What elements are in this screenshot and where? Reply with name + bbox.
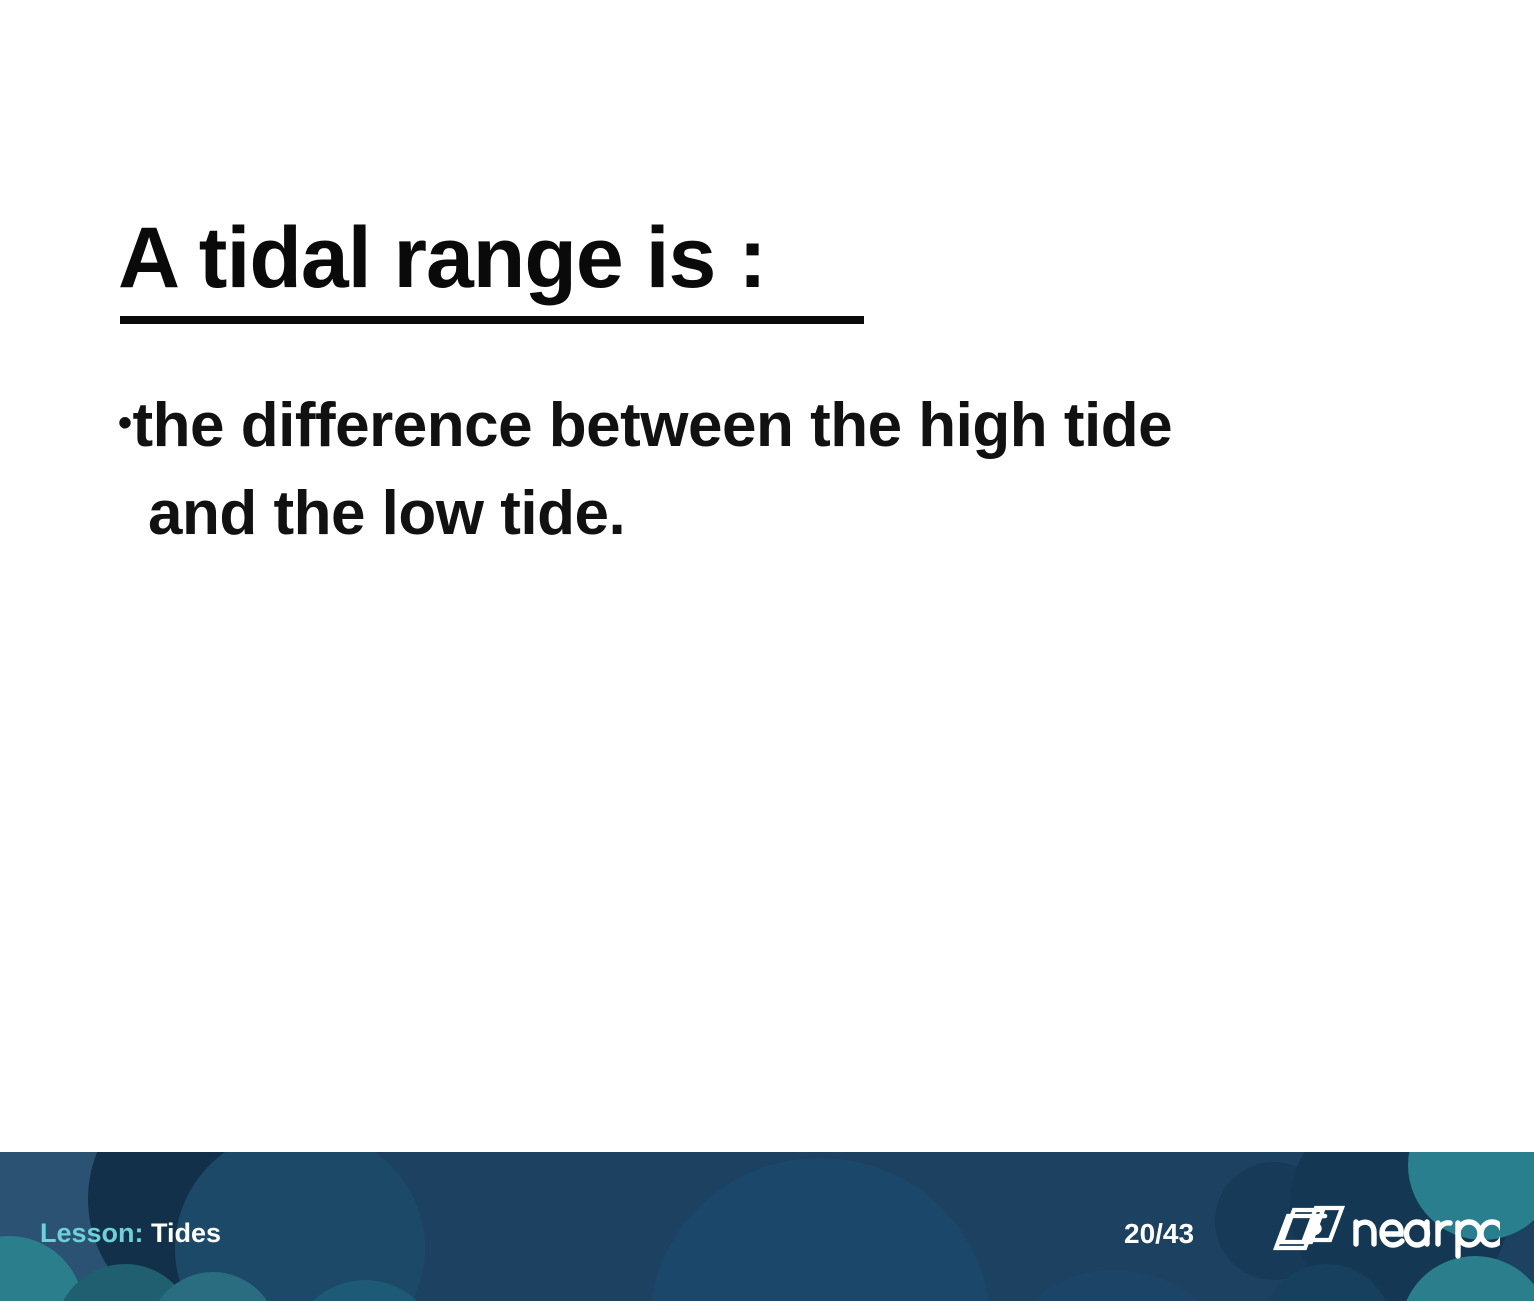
presentation-slide: A tidal range is : •the difference betwe… [0, 0, 1534, 1301]
bullet-item: •the difference between the high tide [118, 382, 1418, 470]
decorative-circle [1400, 1256, 1534, 1301]
lesson-label: Lesson: Tides [40, 1218, 221, 1249]
slide-title: A tidal range is : [118, 215, 766, 301]
bullet-point-icon: • [118, 403, 132, 443]
decorative-circle [148, 1272, 278, 1301]
decorative-circle [1000, 1270, 1230, 1301]
nearpod-logo[interactable] [1268, 1200, 1500, 1260]
slide-content-area: A tidal range is : •the difference betwe… [0, 0, 1534, 1152]
decorative-circle [1262, 1264, 1392, 1301]
title-underline [120, 316, 864, 324]
bullet-text-line-2: and the low tide. [118, 470, 1418, 558]
lesson-name-text: Tides [144, 1218, 222, 1248]
slide-body: •the difference between the high tide an… [118, 382, 1418, 558]
lesson-prefix-text: Lesson: [40, 1218, 144, 1248]
decorative-circle [55, 1264, 195, 1301]
bullet-text-line-1: the difference between the high tide [133, 391, 1173, 460]
page-counter: 20/43 [1124, 1218, 1194, 1250]
decorative-circle [290, 1280, 440, 1301]
decorative-circle [650, 1158, 990, 1301]
